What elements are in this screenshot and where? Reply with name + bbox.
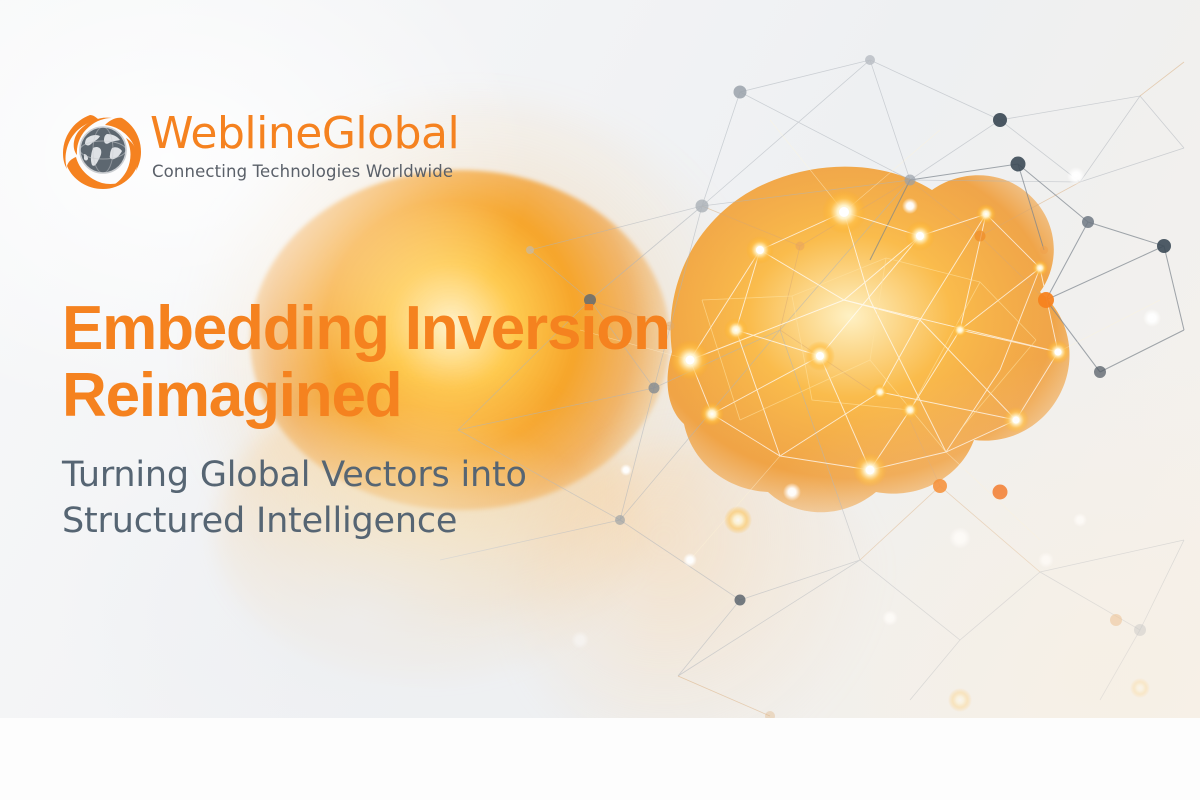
hero-copy-block: Embedding Inversion Reimagined Turning G…: [62, 296, 682, 544]
page-title: Embedding Inversion Reimagined: [62, 296, 682, 430]
logo-tagline: Connecting Technologies Worldwide: [152, 164, 459, 181]
globe-swoosh-logo-icon: [60, 110, 146, 190]
brand-logo[interactable]: WeblineGlobal Connecting Technologies Wo…: [60, 110, 459, 190]
logo-wordmark: WeblineGlobal: [150, 112, 459, 156]
logo-text-block: WeblineGlobal Connecting Technologies Wo…: [150, 110, 459, 181]
marketing-banner: WeblineGlobal Connecting Technologies Wo…: [0, 0, 1200, 800]
footer-strip: [0, 718, 1200, 800]
page-subtitle: Turning Global Vectors into Structured I…: [62, 452, 682, 544]
